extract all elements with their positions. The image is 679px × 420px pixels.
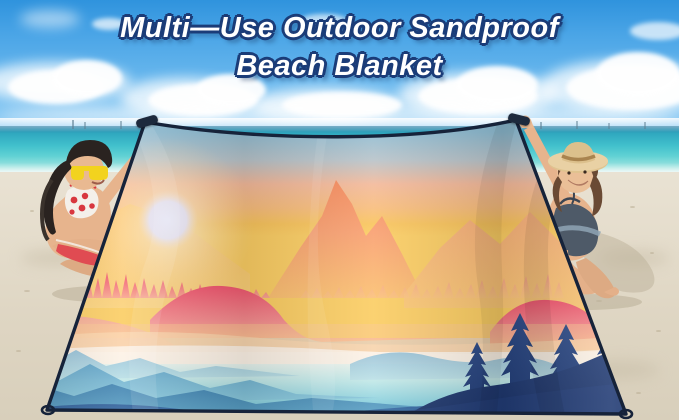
- beach-blanket[interactable]: [0, 108, 679, 420]
- blanket-print: [0, 108, 679, 420]
- product-lifestyle-scene: Multi—Use Outdoor Sandproof Beach Blanke…: [0, 0, 679, 420]
- fabric-folds: [0, 108, 679, 420]
- headline-line-1: Multi—Use Outdoor Sandproof: [0, 12, 679, 45]
- headline-line-2: Beach Blanket: [0, 50, 679, 83]
